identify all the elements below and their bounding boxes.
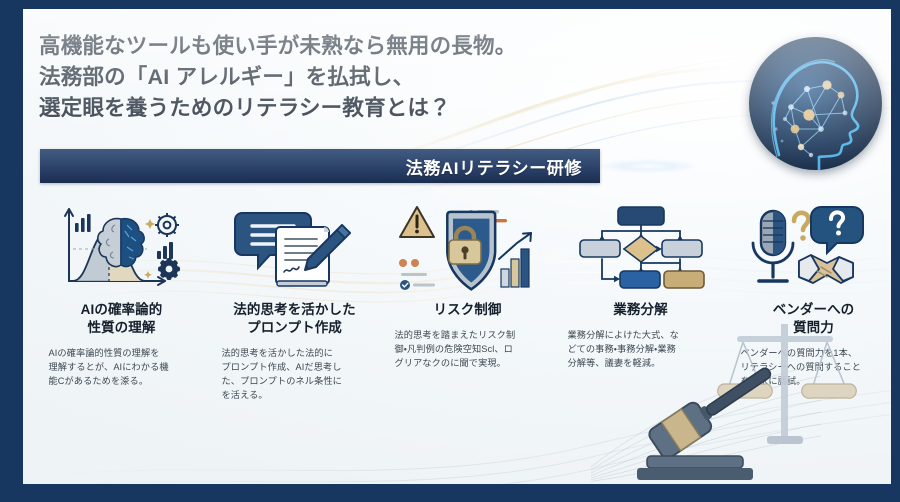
page-title: 高機能なツールも使い手が未熟なら無用の長物。 法務部の「AI アレルギー」を払拭…	[39, 31, 679, 124]
feature-body-3: 法的思考を踏まえたリスク制 御・凡判例の危険空知Scl、ロ グリアなクのに聞で実…	[395, 328, 541, 370]
feature-body-1: AIの確率論的性質の理解を 理解するとが、AIにわかる機 能Cがあるためを𣷹る。	[49, 346, 195, 388]
slide-root: 高機能なツールも使い手が未熟なら無用の長物。 法務部の「AI アレルギー」を払拭…	[0, 0, 900, 502]
banner-bar: 法務AIリテラシー研修	[40, 149, 600, 183]
headline-line-1: 高機能なツールも使い手が未熟なら無用の長物。	[39, 31, 679, 62]
feature-body-2: 法的思考を活かした法的に プロンプト作成、AIだ思考し た、プロンプトのネル条性…	[222, 346, 368, 402]
feature-title-1: AIの確率論的 性質の理解	[81, 301, 163, 337]
feature-body-5: ベンダーへの質問力を1本、 リテラシーへの質問すること を要求に調試。	[741, 346, 887, 388]
feature-body-4: 業務分解によけた大式、な どての事務・事務分解・業務 分解等、議妻を軽減。	[568, 328, 714, 370]
speech-document-pen-icon	[220, 197, 370, 293]
microphone-question-handshake-icon	[739, 197, 889, 293]
feature-column-1: AIの確率論的 性質の理解 AIの確率論的性質の理解を 理解するとが、AIにわか…	[35, 197, 208, 388]
feature-column-3: リスク制御 法的思考を踏まえたリスク制 御・凡判例の危険空知Scl、ロ グリアな…	[381, 197, 554, 370]
feature-column-5: ベンダーへの 質問力 ベンダーへの質問力を1本、 リテラシーへの質問すること を…	[727, 197, 891, 388]
feature-column-2: 法的思考を活かした プロンプト作成 法的思考を活かした法的に プロンプト作成、A…	[208, 197, 381, 402]
flowchart-decision-icon	[566, 197, 716, 293]
neural-head-icon	[749, 37, 882, 170]
brain-bellcurve-gears-icon	[47, 197, 197, 293]
banner-label: 法務AIリテラシー研修	[406, 154, 600, 179]
feature-title-2: 法的思考を活かした プロンプト作成	[233, 301, 355, 337]
feature-column-4: 業務分解 業務分解によけた大式、な どての事務・事務分解・業務 分解等、議妻を軽…	[554, 197, 727, 370]
headline-line-2: 法務部の「AI アレルギー」を払拭し、	[39, 62, 679, 93]
slide-card: 高機能なツールも使い手が未熟なら無用の長物。 法務部の「AI アレルギー」を払拭…	[23, 9, 891, 484]
feature-columns: AIの確率論的 性質の理解 AIの確率論的性質の理解を 理解するとが、AIにわか…	[35, 197, 891, 427]
shield-lock-warning-chart-icon	[393, 197, 543, 293]
ai-brain-head-badge	[749, 37, 882, 170]
feature-title-5: ベンダーへの 質問力	[773, 301, 855, 337]
headline-line-3: 選定眼を養うためのリテラシー教育とは？	[39, 93, 679, 124]
feature-title-3: リスク制御	[434, 301, 502, 319]
feature-title-4: 業務分解	[613, 301, 667, 319]
